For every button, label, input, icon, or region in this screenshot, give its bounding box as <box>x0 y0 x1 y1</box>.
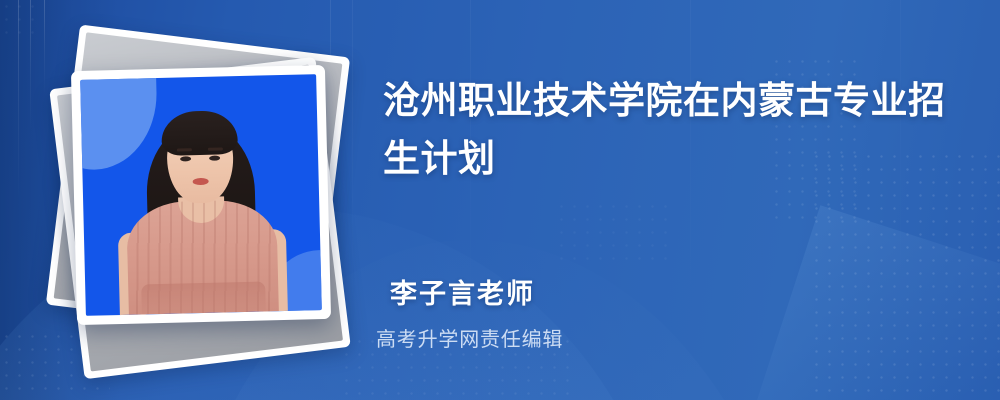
author-photo-card <box>71 65 331 325</box>
portrait-hair-front <box>161 110 238 156</box>
photo-card-stack <box>52 48 362 358</box>
portrait-eyebrow <box>208 147 223 150</box>
vertical-line-decor <box>30 0 31 165</box>
portrait-illustration <box>80 74 322 316</box>
vertical-line-decor <box>18 0 19 250</box>
vertical-line-decor <box>44 0 45 120</box>
byline-block: 李子言老师 高考升学网责任编辑 <box>390 272 930 352</box>
page-title: 沧州职业技术学院在内蒙古专业招生计划 <box>383 72 963 189</box>
author-role: 高考升学网责任编辑 <box>376 323 930 352</box>
dot-pattern-decor <box>0 0 40 40</box>
portrait-dress-waist <box>141 281 266 314</box>
portrait-eyebrow <box>177 148 192 151</box>
headline-block: 沧州职业技术学院在内蒙古专业招生计划 <box>383 72 963 189</box>
promo-banner: 沧州职业技术学院在内蒙古专业招生计划 李子言老师 高考升学网责任编辑 <box>0 0 1000 400</box>
author-name: 李子言老师 <box>390 272 930 311</box>
dot-pattern-decor <box>555 200 675 270</box>
author-photo <box>80 74 322 316</box>
